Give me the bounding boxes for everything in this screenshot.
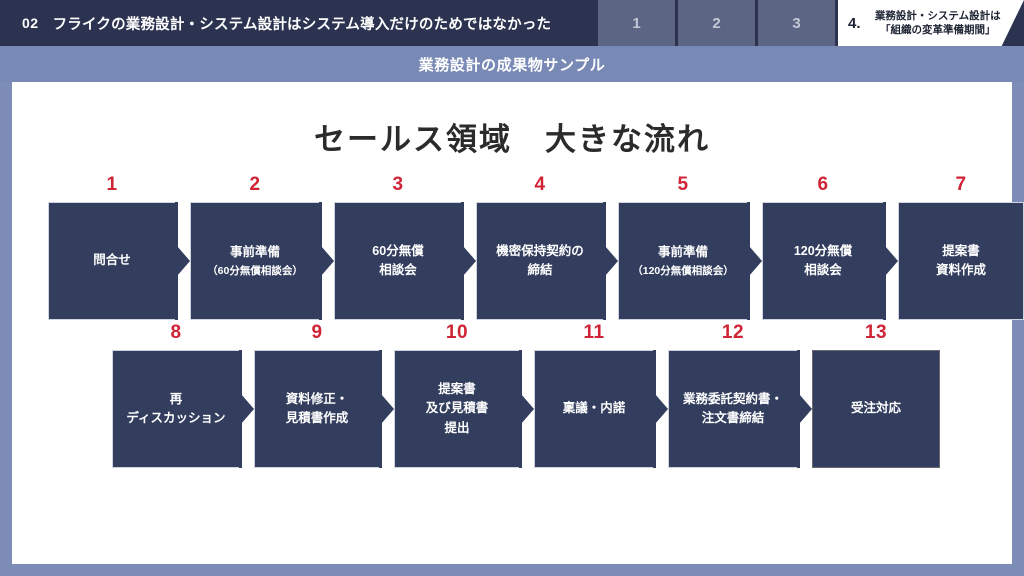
header-section-number: 02 (22, 15, 39, 31)
flow-chevron-gap (884, 202, 898, 320)
flow-step-label: 提案書資料作成 (930, 242, 992, 281)
chevron-separator-icon (653, 350, 669, 468)
slide-header: 02 フライクの業務設計・システム設計はシステム導入だけのためではなかった 1 … (0, 0, 1024, 46)
flow-chevron-gap (520, 350, 534, 468)
flow-step-label: 再ディスカッション (120, 390, 231, 429)
flow-step[interactable]: 4機密保持契約の締結 (476, 202, 604, 320)
flow-step-number: 2 (190, 174, 320, 196)
flow-step-label-line: 受注対応 (851, 399, 901, 418)
flow-step-box[interactable]: 事前準備（60分無償相談会） (190, 202, 320, 320)
flow-chevron-gap (654, 350, 668, 468)
flow-step[interactable]: 360分無償相談会 (334, 202, 462, 320)
flow-step-label-line: 60分無償 (372, 242, 423, 261)
flow-step[interactable]: 8再ディスカッション (112, 350, 240, 468)
flow-step-box[interactable]: 120分無償相談会 (762, 202, 884, 320)
subtitle-band: 業務設計の成果物サンプル (0, 46, 1024, 82)
flow-step-label: 問合せ (87, 251, 137, 270)
chevron-separator-icon (175, 202, 191, 320)
flow-step-number: 3 (334, 174, 462, 196)
flow-step-label: 機密保持契約の締結 (490, 242, 590, 281)
flow-step-label: 業務委託契約書・注文書締結 (677, 390, 789, 429)
flow-step[interactable]: 1問合せ (48, 202, 176, 320)
flow-step-number: 10 (394, 322, 520, 344)
flow-step-label-line: 業務委託契約書・ (683, 390, 783, 409)
flow-step-box[interactable]: 提案書資料作成 (898, 202, 1024, 320)
flow-step-label-line: 及び見積書 (426, 399, 489, 418)
tab-3[interactable]: 3 (758, 0, 835, 46)
flow-step-number: 6 (762, 174, 884, 196)
flow-step-label-line: 機密保持契約の (496, 242, 584, 261)
flow-step-box[interactable]: 提案書及び見積書提出 (394, 350, 520, 468)
flow-step[interactable]: 11稟議・内諾 (534, 350, 654, 468)
chevron-separator-icon (747, 202, 763, 320)
flow-step-box[interactable]: 受注対応 (812, 350, 940, 468)
flow-step-number: 9 (254, 322, 380, 344)
flow-step-label-line: 120分無償 (794, 242, 852, 261)
flow-step-number: 5 (618, 174, 748, 196)
flow-step-number: 12 (668, 322, 798, 344)
flow-step-label-line: 相談会 (372, 261, 423, 280)
flow-step-box[interactable]: 機密保持契約の締結 (476, 202, 604, 320)
flow-step[interactable]: 13受注対応 (812, 350, 940, 468)
flow-step-label: 資料修正・見積書作成 (280, 390, 355, 429)
header-tabs: 1 2 3 4. 業務設計・システム設計は 「組織の変革準備期間」 (595, 0, 1024, 46)
flow-step-label-line: 事前準備 (632, 243, 734, 262)
tab-3-label: 3 (792, 15, 800, 32)
chevron-separator-icon (519, 350, 535, 468)
flow-step-label-line: 問合せ (93, 251, 131, 270)
chevron-separator-icon (603, 202, 619, 320)
flow-step-number: 4 (476, 174, 604, 196)
tab-2-label: 2 (712, 15, 720, 32)
flow-chevron-gap (462, 202, 476, 320)
tab-4-label-line1: 業務設計・システム設計は (868, 9, 1008, 23)
flow-step-label-line: 資料作成 (936, 261, 986, 280)
flow-step-label-line: 見積書作成 (286, 409, 349, 428)
flow-step-label: 提案書及び見積書提出 (420, 380, 495, 438)
flow-chevron-gap (748, 202, 762, 320)
flow-step[interactable]: 12業務委託契約書・注文書締結 (668, 350, 798, 468)
flow-chevron-gap (320, 202, 334, 320)
flow-row-2: 8再ディスカッション9資料修正・見積書作成10提案書及び見積書提出11稟議・内諾… (112, 350, 940, 468)
flow-step-box[interactable]: 問合せ (48, 202, 176, 320)
slide-title: セールス領域 大きな流れ (12, 114, 1012, 159)
flow-step-label: 60分無償相談会 (366, 242, 429, 281)
tab-2[interactable]: 2 (678, 0, 755, 46)
flow-step-label: 事前準備（120分無償相談会） (626, 243, 740, 279)
flow-step-label: 受注対応 (845, 399, 907, 418)
chevron-separator-icon (319, 202, 335, 320)
flow-step-number: 1 (48, 174, 176, 196)
flow-step-box[interactable]: 事前準備（120分無償相談会） (618, 202, 748, 320)
flow-step-box[interactable]: 再ディスカッション (112, 350, 240, 468)
flow-chevron-gap (176, 202, 190, 320)
chevron-separator-icon (239, 350, 255, 468)
flow-chevron-gap (604, 202, 618, 320)
flow-step-label-line: 相談会 (794, 261, 852, 280)
flow-step[interactable]: 6120分無償相談会 (762, 202, 884, 320)
flow-step-box[interactable]: 稟議・内諾 (534, 350, 654, 468)
tab-4-label: 業務設計・システム設計は 「組織の変革準備期間」 (868, 9, 1024, 37)
flow-step[interactable]: 2事前準備（60分無償相談会） (190, 202, 320, 320)
flow-step-label-line: 注文書締結 (683, 409, 783, 428)
flow-step-label: 120分無償相談会 (788, 242, 858, 281)
tab-4-number: 4. (848, 15, 861, 32)
flow-step-label-subline: （60分無償相談会） (207, 263, 303, 279)
slide-stage: セールス領域 大きな流れ 1問合せ2事前準備（60分無償相談会）360分無償相談… (0, 82, 1024, 576)
flow-step-box[interactable]: 60分無償相談会 (334, 202, 462, 320)
chevron-separator-icon (461, 202, 477, 320)
header-title-group: 02 フライクの業務設計・システム設計はシステム導入だけのためではなかった (0, 0, 595, 46)
flow-step-label-line: 資料修正・ (286, 390, 349, 409)
flow-step[interactable]: 5事前準備（120分無償相談会） (618, 202, 748, 320)
flow-step-number: 13 (812, 322, 940, 344)
flow-chevron-gap (240, 350, 254, 468)
flow-step-label: 稟議・内諾 (557, 399, 632, 418)
flow-step-label: 事前準備（60分無償相談会） (201, 243, 309, 279)
flow-step-label-line: 提出 (426, 419, 489, 438)
tab-1[interactable]: 1 (598, 0, 675, 46)
flow-step-number: 8 (112, 322, 240, 344)
tab-4-label-line2: 「組織の変革準備期間」 (868, 23, 1008, 37)
flow-row-1: 1問合せ2事前準備（60分無償相談会）360分無償相談会4機密保持契約の締結5事… (48, 202, 1024, 320)
flow-step-label-line: 提案書 (936, 242, 986, 261)
flow-step-box[interactable]: 資料修正・見積書作成 (254, 350, 380, 468)
flow-step-label-line: 事前準備 (207, 243, 303, 262)
chevron-separator-icon (379, 350, 395, 468)
flow-step-label-line: 提案書 (426, 380, 489, 399)
flow-chevron-gap (380, 350, 394, 468)
flow-step-number: 7 (898, 174, 1024, 196)
flow-step-number: 11 (534, 322, 654, 344)
flow-step-label-subline: （120分無償相談会） (632, 263, 734, 279)
flow-chevron-gap (798, 350, 812, 468)
flow-step-label-line: 締結 (496, 261, 584, 280)
flow-step-label-line: 再 (126, 390, 225, 409)
content-card: セールス領域 大きな流れ 1問合せ2事前準備（60分無償相談会）360分無償相談… (12, 82, 1012, 564)
subtitle-text: 業務設計の成果物サンプル (419, 54, 606, 75)
flow-step-box[interactable]: 業務委託契約書・注文書締結 (668, 350, 798, 468)
chevron-separator-icon (797, 350, 813, 468)
tab-4-active[interactable]: 4. 業務設計・システム設計は 「組織の変革準備期間」 (838, 0, 1024, 46)
flow-step-label-line: 稟議・内諾 (563, 399, 626, 418)
flow-step[interactable]: 7提案書資料作成 (898, 202, 1024, 320)
chevron-separator-icon (883, 202, 899, 320)
flow-step-label-line: ディスカッション (126, 409, 225, 428)
flow-step[interactable]: 10提案書及び見積書提出 (394, 350, 520, 468)
tab-1-label: 1 (632, 15, 640, 32)
page-title: フライクの業務設計・システム設計はシステム導入だけのためではなかった (53, 13, 552, 34)
flow-step[interactable]: 9資料修正・見積書作成 (254, 350, 380, 468)
